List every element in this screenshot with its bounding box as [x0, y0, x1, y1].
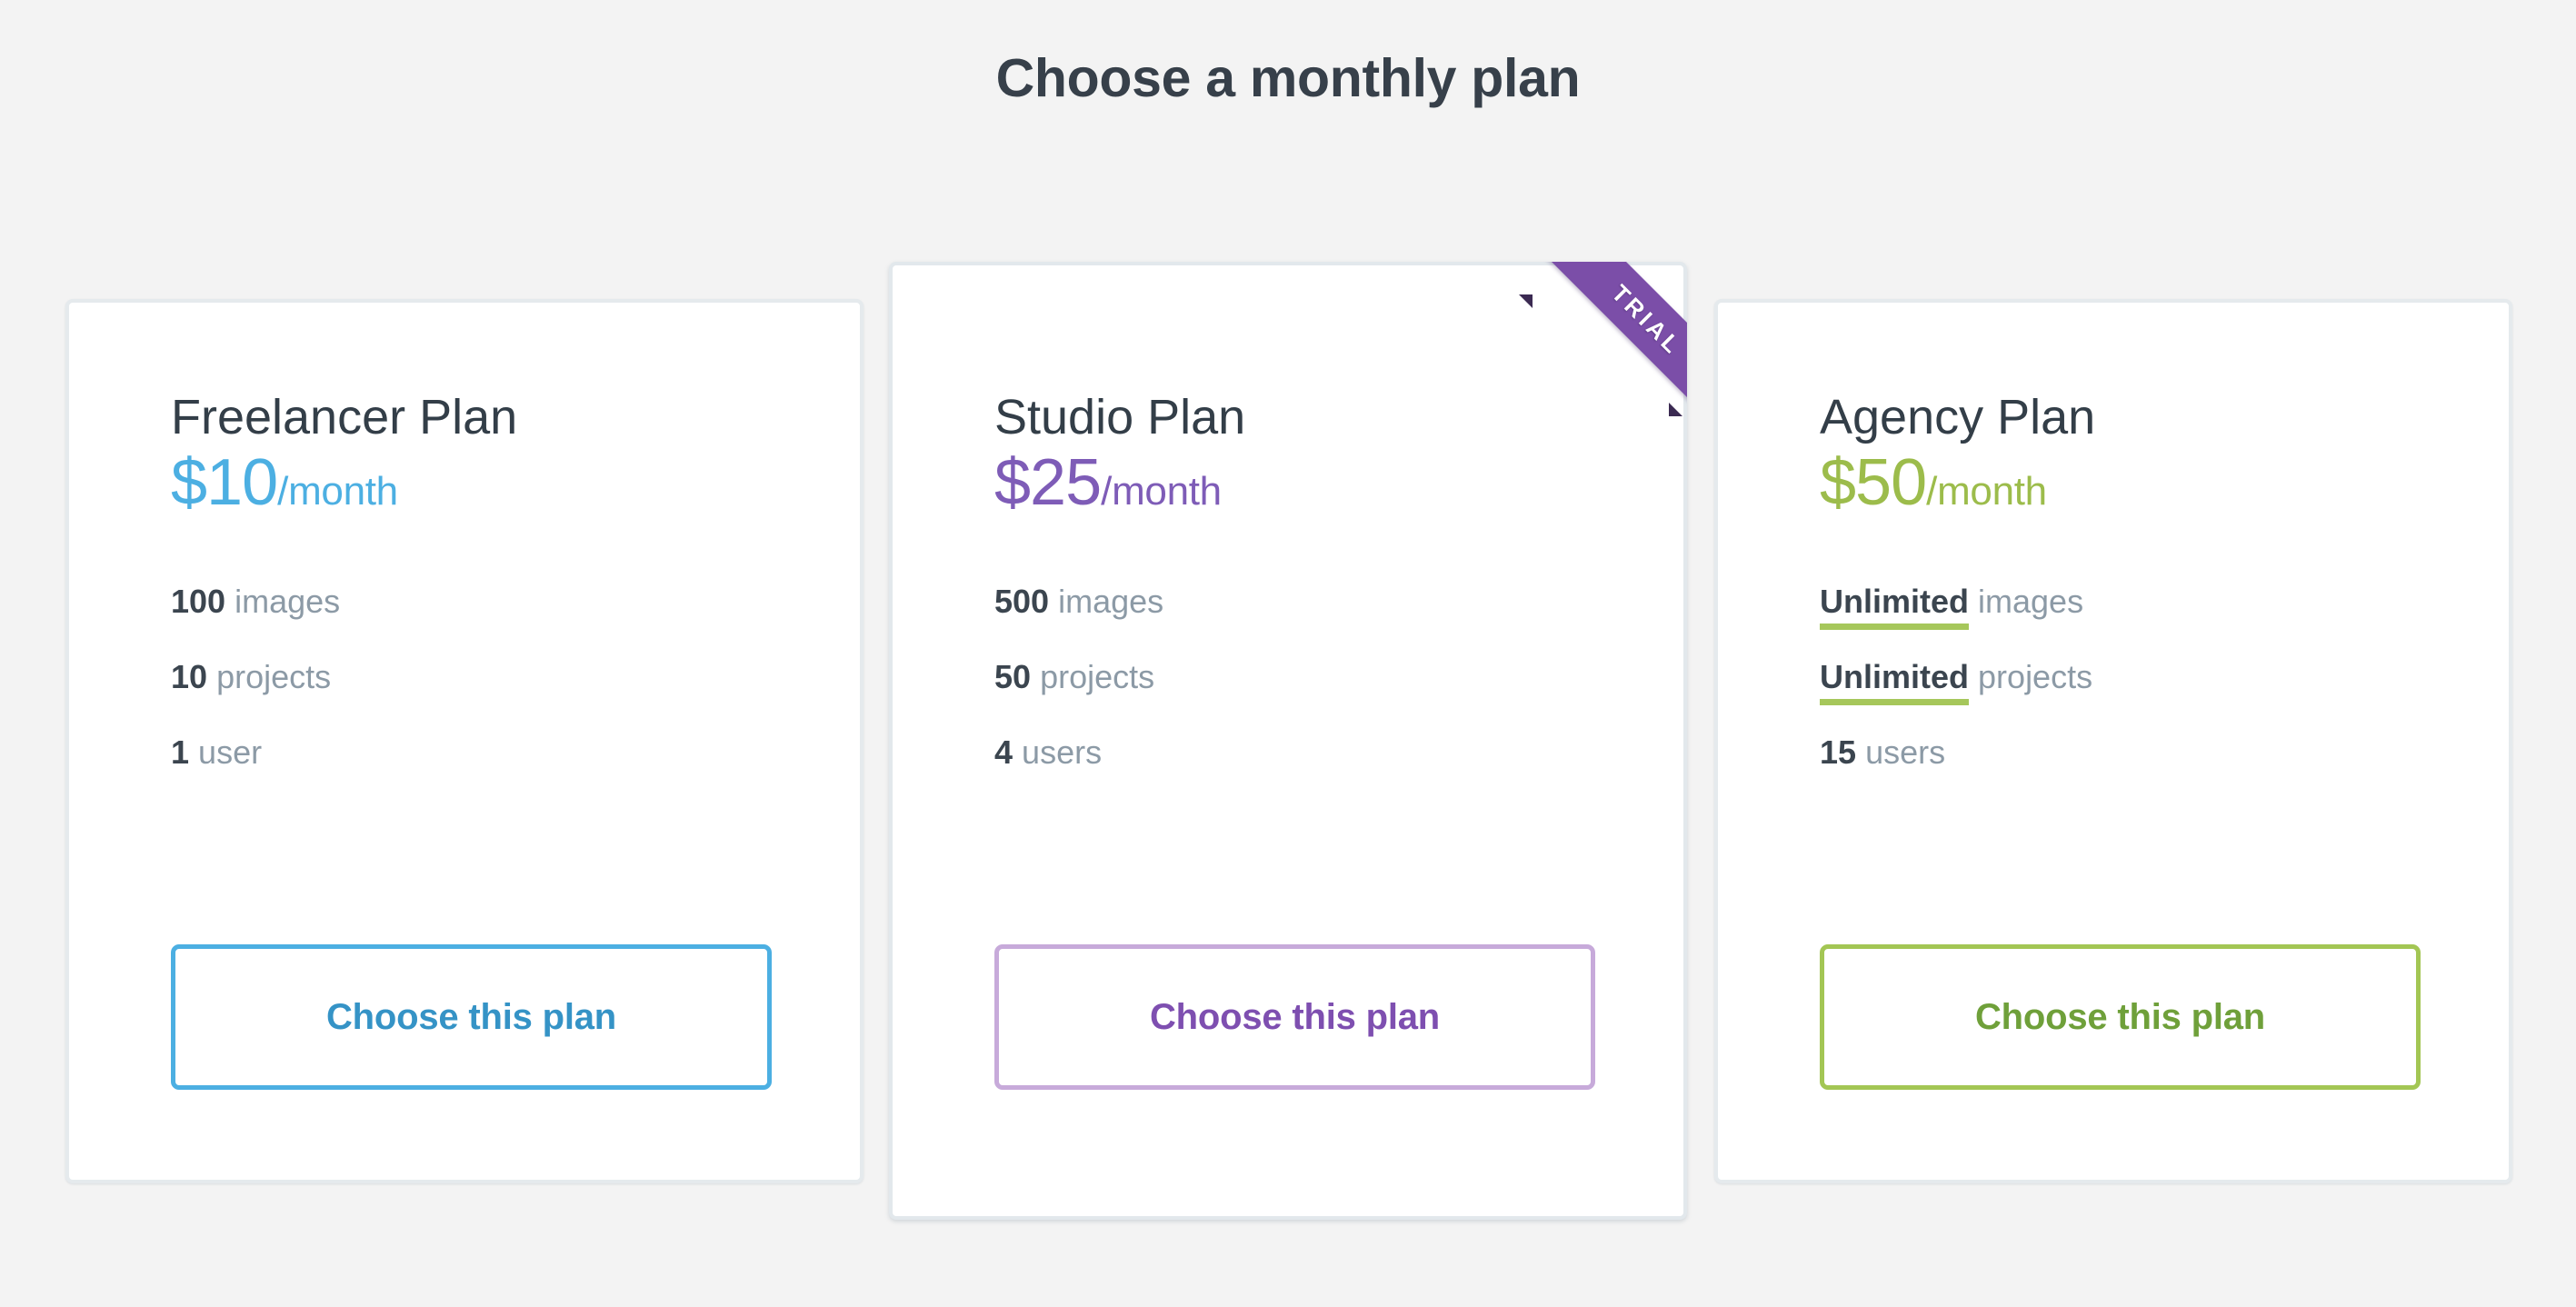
- plan-feature-label: projects: [1978, 658, 2092, 695]
- plan-feature-label: images: [1058, 583, 1163, 620]
- plan-feature-label: images: [1978, 583, 2083, 620]
- plan-feature: 100 images: [171, 585, 805, 618]
- plan-feature-label: users: [1022, 733, 1102, 771]
- plan-feature-label: projects: [1040, 658, 1154, 695]
- plan-price: $10/month: [171, 449, 805, 518]
- plan-price: $25/month: [994, 449, 1629, 518]
- plan-card-freelancer[interactable]: Freelancer Plan $10/month 100 images 10 …: [65, 299, 864, 1183]
- plan-feature-label: users: [1865, 733, 1945, 771]
- plan-feature: 1 user: [171, 736, 805, 769]
- plan-feature-label: images: [235, 583, 340, 620]
- plan-feature-list: 500 images 50 projects 4 users: [994, 585, 1629, 769]
- plan-price: $50/month: [1820, 449, 2454, 518]
- plan-card-content: Studio Plan $25/month 500 images 50 proj…: [994, 391, 1629, 769]
- choose-plan-button-studio[interactable]: Choose this plan: [994, 944, 1595, 1090]
- plan-card-content: Agency Plan $50/month Unlimited images U…: [1820, 391, 2454, 769]
- plan-feature-value: 1: [171, 736, 189, 769]
- plan-price-amount: $10: [171, 446, 277, 519]
- ribbon-fold-left-icon: [1519, 294, 1533, 308]
- plan-feature: Unlimited images: [1820, 585, 2454, 618]
- plan-feature: Unlimited projects: [1820, 661, 2454, 693]
- plan-feature-value: Unlimited: [1820, 585, 1969, 618]
- plan-name: Studio Plan: [994, 391, 1629, 444]
- plan-feature: 10 projects: [171, 661, 805, 693]
- choose-plan-button-agency[interactable]: Choose this plan: [1820, 944, 2421, 1090]
- plan-name: Freelancer Plan: [171, 391, 805, 444]
- plan-name: Agency Plan: [1820, 391, 2454, 444]
- ribbon-fold-right-icon: [1669, 403, 1682, 416]
- plan-card-studio[interactable]: TRIAL Studio Plan $25/month 500 images 5…: [889, 262, 1687, 1220]
- choose-plan-button-freelancer[interactable]: Choose this plan: [171, 944, 772, 1090]
- plan-price-period: /month: [277, 469, 398, 514]
- plan-feature-label: user: [198, 733, 262, 771]
- plan-feature-value: 10: [171, 661, 207, 693]
- plan-feature: 50 projects: [994, 661, 1629, 693]
- plan-card-agency[interactable]: Agency Plan $50/month Unlimited images U…: [1714, 299, 2512, 1183]
- plan-price-period: /month: [1926, 469, 2047, 514]
- plan-feature-list: 100 images 10 projects 1 user: [171, 585, 805, 769]
- pricing-plan-list: Freelancer Plan $10/month 100 images 10 …: [0, 0, 2576, 1307]
- plan-feature: 4 users: [994, 736, 1629, 769]
- plan-feature: 500 images: [994, 585, 1629, 618]
- plan-card-content: Freelancer Plan $10/month 100 images 10 …: [171, 391, 805, 769]
- plan-feature-value: 500: [994, 585, 1049, 618]
- plan-feature-label: projects: [216, 658, 331, 695]
- plan-feature-value: 15: [1820, 736, 1856, 769]
- plan-price-period: /month: [1101, 469, 1222, 514]
- trial-ribbon-label: TRIAL: [1606, 279, 1687, 361]
- plan-feature-list: Unlimited images Unlimited projects 15 u…: [1820, 585, 2454, 769]
- plan-price-amount: $25: [994, 446, 1101, 519]
- plan-feature-value: 4: [994, 736, 1013, 769]
- plan-feature-value: 50: [994, 661, 1031, 693]
- plan-feature-value: 100: [171, 585, 225, 618]
- plan-price-amount: $50: [1820, 446, 1926, 519]
- plan-feature: 15 users: [1820, 736, 2454, 769]
- plan-feature-value: Unlimited: [1820, 661, 1969, 693]
